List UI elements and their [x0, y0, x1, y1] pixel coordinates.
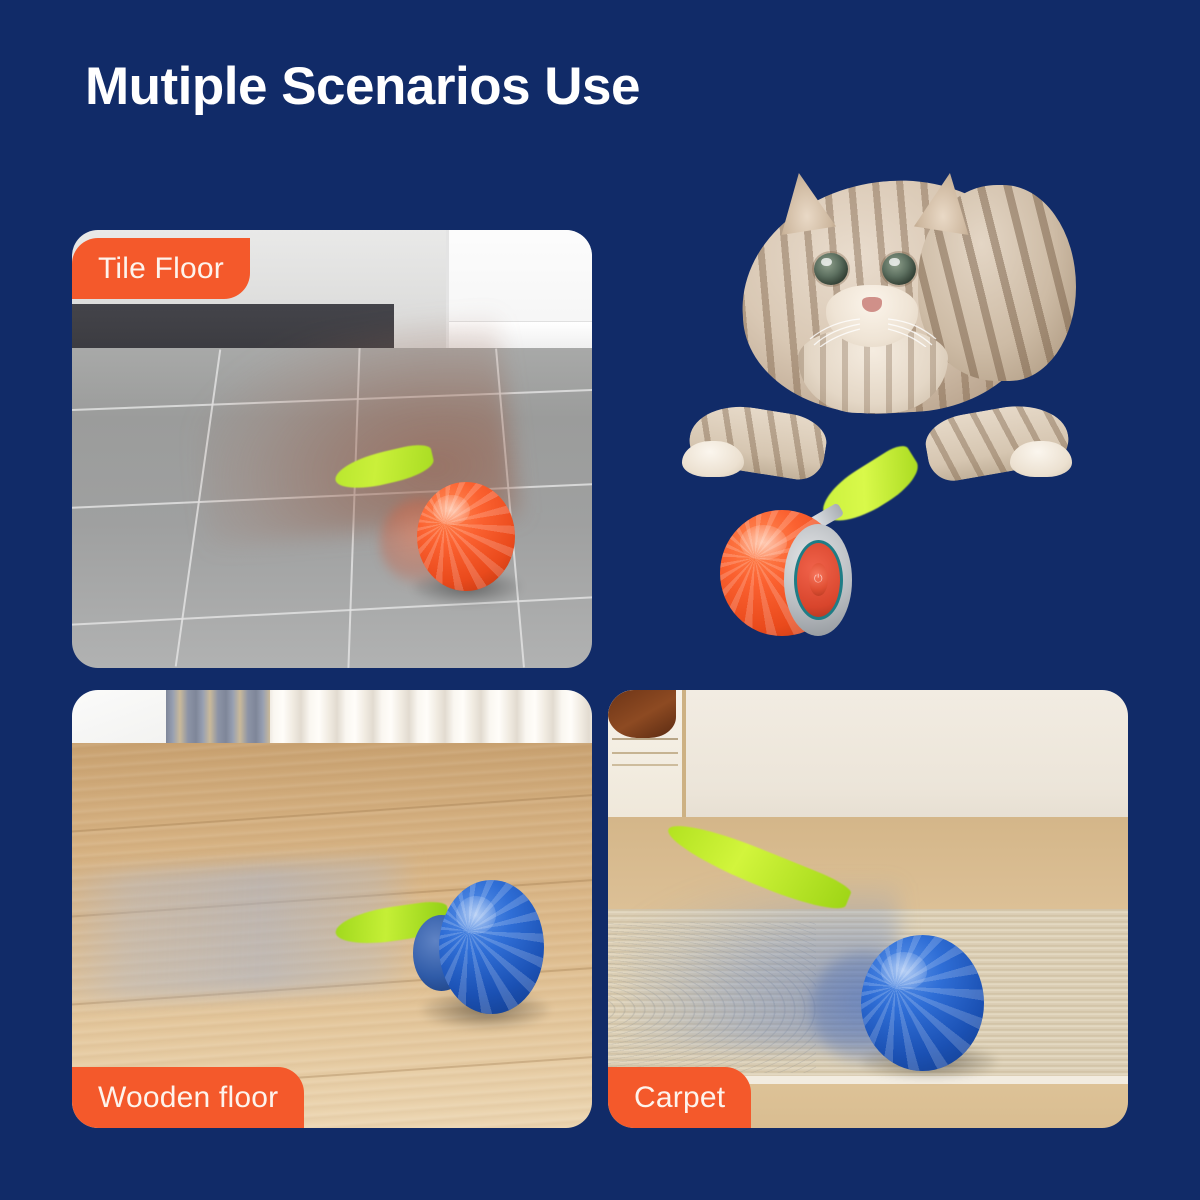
- hero-toy-accent-ring: ⏻: [794, 540, 843, 620]
- scenario-badge-tile-floor: Tile Floor: [72, 238, 250, 299]
- scenario-badge-carpet: Carpet: [608, 1067, 751, 1128]
- wooden-bowl: [608, 690, 676, 738]
- feather-attachment: [332, 441, 436, 494]
- toy-ball-blue: [681, 821, 1003, 1093]
- toy-ball-blue: [348, 861, 566, 1071]
- product-feature-page: Mutiple Scenarios Use Tile Fl: [0, 0, 1200, 1200]
- kitten-left-eye: [814, 253, 848, 285]
- scenario-panel-wooden-floor[interactable]: Wooden floor: [72, 690, 592, 1128]
- power-icon[interactable]: ⏻: [809, 563, 828, 596]
- ball-body: [861, 935, 984, 1071]
- carpet-scene: [608, 690, 1128, 1128]
- feather-attachment: [662, 814, 855, 919]
- page-title: Mutiple Scenarios Use: [85, 58, 640, 116]
- ball-body: [417, 482, 515, 591]
- kitten-right-eye: [882, 253, 916, 285]
- kitten-illustration: [666, 175, 1086, 475]
- wooden-floor-scene: [72, 690, 592, 1128]
- scenario-badge-wooden-floor: Wooden floor: [72, 1067, 304, 1128]
- ball-body: [439, 880, 544, 1015]
- hero-toy-wheel: ⏻: [784, 524, 852, 636]
- hero-toy-ball-orange: ⏻: [716, 470, 936, 650]
- scenario-panel-tile-floor[interactable]: Tile Floor: [72, 230, 592, 668]
- toy-ball-orange: [342, 423, 550, 633]
- kitten-left-paw: [682, 441, 744, 477]
- carpet-room-wall: [608, 690, 1128, 830]
- scenario-panel-carpet[interactable]: Carpet: [608, 690, 1128, 1128]
- kitten-right-paw: [1010, 441, 1072, 477]
- curtain-shadowed-section: [166, 690, 270, 743]
